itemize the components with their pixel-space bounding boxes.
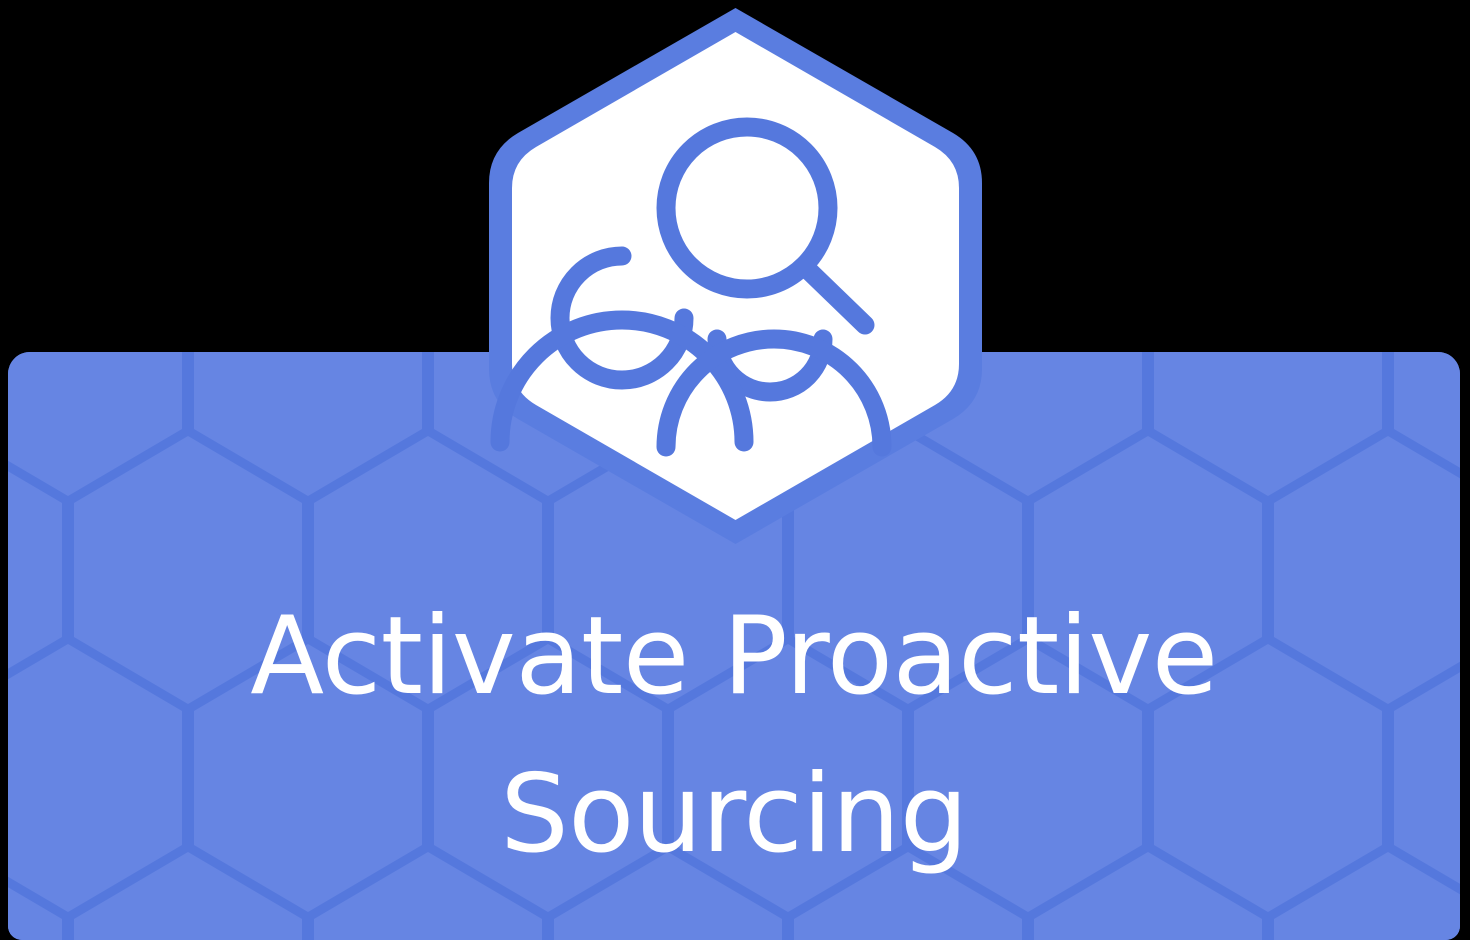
badge-emblem xyxy=(483,2,988,550)
hexagon-badge-svg xyxy=(483,2,988,550)
screenshot-stage: Activate Proactive Sourcing xyxy=(0,0,1470,940)
